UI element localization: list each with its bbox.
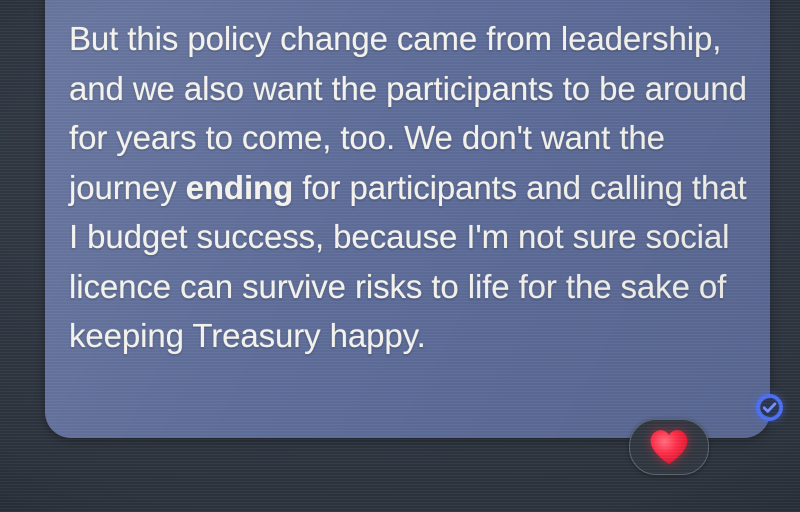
message-text-emphasis: ending [186, 169, 294, 206]
heart-icon [649, 429, 689, 465]
message-bubble[interactable]: But this policy change came from leaders… [45, 0, 770, 438]
reaction-pill-heart[interactable] [629, 419, 709, 475]
message-text: But this policy change came from leaders… [69, 14, 748, 361]
screen-photo: But this policy change came from leaders… [0, 0, 800, 512]
check-circle-icon [756, 394, 783, 421]
